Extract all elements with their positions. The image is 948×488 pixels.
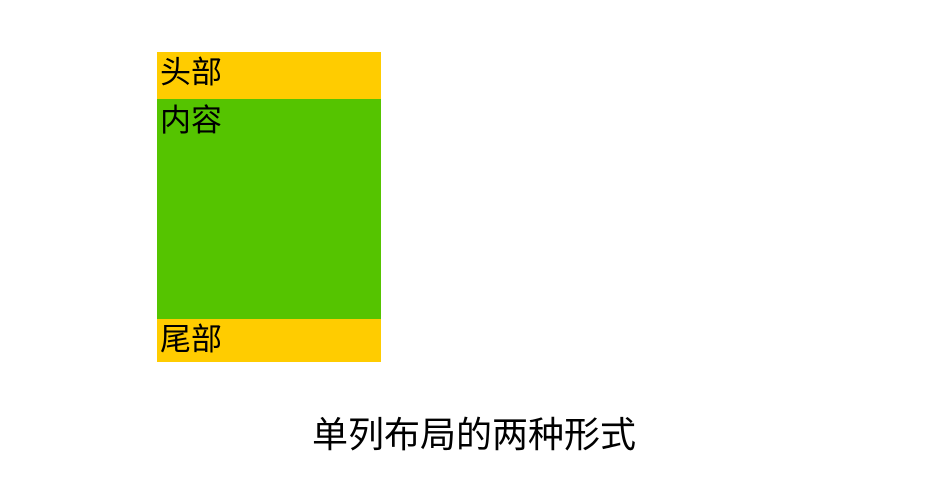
diagram-a-content-label: 内容 bbox=[157, 99, 381, 137]
diagram-a-header-band: 头部 bbox=[157, 52, 381, 99]
layout-diagram-figure: 头部 内容 尾部 头部 内容 尾部 单列布局的两种形式 bbox=[0, 0, 948, 488]
diagram-a-header-label: 头部 bbox=[157, 52, 381, 89]
diagram-a-footer-band: 尾部 bbox=[157, 319, 381, 362]
diagram-a-footer-label: 尾部 bbox=[157, 319, 381, 356]
diagram-a-content-band: 内容 bbox=[157, 99, 381, 319]
diagram-inset-content-column: 头部 内容 尾部 bbox=[474, 0, 948, 400]
diagram-flush-column: 头部 内容 尾部 bbox=[0, 0, 474, 400]
figure-caption: 单列布局的两种形式 bbox=[0, 417, 948, 456]
